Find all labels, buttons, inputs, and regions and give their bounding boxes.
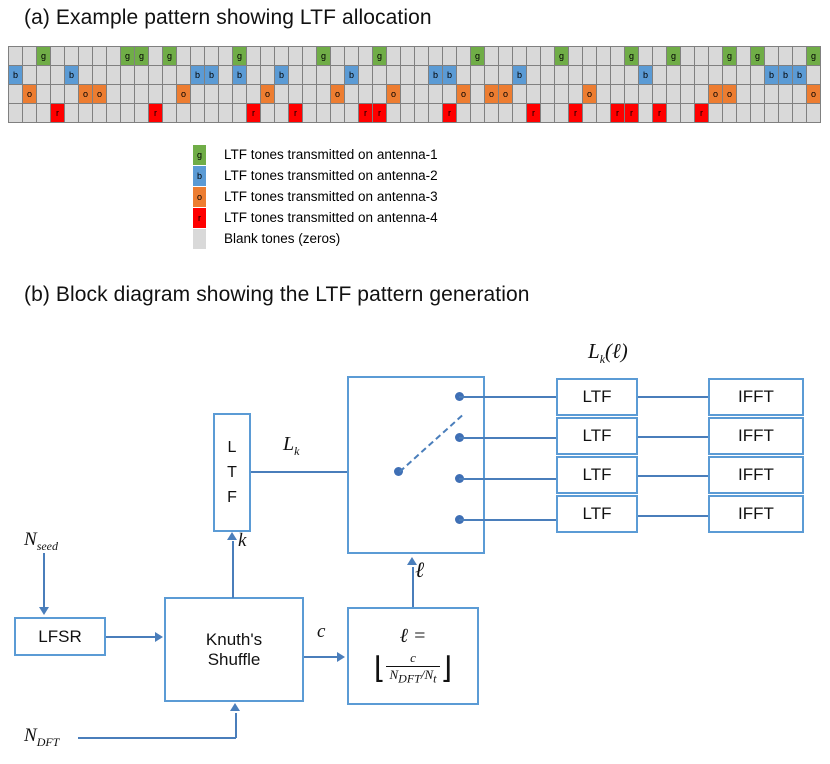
tone-cell-blank bbox=[177, 66, 191, 85]
tone-cell-blank bbox=[289, 66, 303, 85]
tone-cell-blank bbox=[359, 66, 373, 85]
label-lk: Lk bbox=[283, 433, 299, 459]
tone-cell-blank bbox=[51, 85, 65, 104]
ifft-label-2: IFFT bbox=[738, 426, 774, 446]
arrowhead-ndft bbox=[230, 703, 240, 711]
tone-cell-blank bbox=[135, 85, 149, 104]
tone-cell-blank bbox=[163, 85, 177, 104]
tone-cell-g: g bbox=[37, 47, 51, 66]
tone-cell-blank bbox=[163, 66, 177, 85]
tone-cell-blank bbox=[177, 47, 191, 66]
tone-cell-blank bbox=[51, 66, 65, 85]
lfsr-block: LFSR bbox=[14, 617, 106, 656]
tone-cell-blank bbox=[149, 66, 163, 85]
tone-cell-blank bbox=[611, 47, 625, 66]
line-ltf-to-ifft-4 bbox=[638, 515, 708, 517]
arrowhead-nseed bbox=[39, 607, 49, 615]
tone-cell-blank bbox=[247, 47, 261, 66]
tone-cell-blank bbox=[219, 104, 233, 123]
tone-cell-blank bbox=[303, 104, 317, 123]
tone-cell-blank bbox=[191, 85, 205, 104]
tone-cell-blank bbox=[345, 85, 359, 104]
tone-cell-blank bbox=[247, 66, 261, 85]
legend-item-g: gLTF tones transmitted on antenna-1 bbox=[193, 144, 438, 165]
tone-cell-blank bbox=[653, 66, 667, 85]
tone-cell-blank bbox=[569, 85, 583, 104]
tone-cell-blank bbox=[107, 47, 121, 66]
tone-cell-blank bbox=[289, 85, 303, 104]
floor-left-bracket: ⌊ bbox=[374, 654, 386, 684]
tone-cell-b: b bbox=[191, 66, 205, 85]
tone-cell-o: o bbox=[723, 85, 737, 104]
tone-cell-blank bbox=[65, 85, 79, 104]
arrowhead-c bbox=[337, 652, 345, 662]
tone-cell-blank bbox=[737, 85, 751, 104]
tone-cell-blank bbox=[751, 66, 765, 85]
tone-cell-r: r bbox=[149, 104, 163, 123]
tone-cell-blank bbox=[107, 66, 121, 85]
tone-cell-o: o bbox=[387, 85, 401, 104]
tone-grid-row-g: gggggggggggggg bbox=[9, 47, 821, 66]
tone-cell-blank bbox=[401, 66, 415, 85]
line-ndft-vertical bbox=[235, 713, 237, 738]
line-knuth-to-formula bbox=[304, 656, 338, 658]
tone-cell-blank bbox=[625, 66, 639, 85]
fraction-numerator: c bbox=[386, 650, 441, 667]
ltf-output-label-3: LTF bbox=[583, 465, 612, 485]
legend-item-r: rLTF tones transmitted on antenna-4 bbox=[193, 207, 438, 228]
tone-grid-row-b: bbbbbbbbbbbbbb bbox=[9, 66, 821, 85]
legend-item-k: Blank tones (zeros) bbox=[193, 228, 438, 249]
tone-cell-blank bbox=[233, 85, 247, 104]
tone-cell-r: r bbox=[695, 104, 709, 123]
tone-cell-g: g bbox=[723, 47, 737, 66]
tone-cell-blank bbox=[345, 104, 359, 123]
tone-cell-blank bbox=[219, 85, 233, 104]
tone-cell-blank bbox=[695, 85, 709, 104]
ltf-letter-t: T bbox=[227, 460, 237, 485]
tone-cell-o: o bbox=[23, 85, 37, 104]
legend-label-k: Blank tones (zeros) bbox=[224, 231, 340, 246]
tone-cell-blank bbox=[415, 66, 429, 85]
formula-lhs: ℓ = bbox=[400, 625, 427, 648]
tone-cell-g: g bbox=[555, 47, 569, 66]
tone-cell-blank bbox=[541, 47, 555, 66]
tone-cell-blank bbox=[79, 66, 93, 85]
tone-cell-r: r bbox=[289, 104, 303, 123]
tone-cell-blank bbox=[709, 104, 723, 123]
label-c: c bbox=[317, 621, 325, 643]
tone-cell-blank bbox=[149, 47, 163, 66]
tone-cell-o: o bbox=[331, 85, 345, 104]
tone-cell-blank bbox=[359, 47, 373, 66]
tone-cell-blank bbox=[779, 47, 793, 66]
legend-label-b: LTF tones transmitted on antenna-2 bbox=[224, 168, 438, 183]
tone-cell-blank bbox=[751, 85, 765, 104]
tone-cell-blank bbox=[191, 104, 205, 123]
tone-cell-blank bbox=[135, 66, 149, 85]
tone-cell-blank bbox=[373, 66, 387, 85]
tone-cell-blank bbox=[611, 85, 625, 104]
tone-cell-blank bbox=[23, 47, 37, 66]
tone-cell-b: b bbox=[65, 66, 79, 85]
tone-cell-b: b bbox=[513, 66, 527, 85]
tone-cell-blank bbox=[79, 47, 93, 66]
tone-cell-blank bbox=[135, 104, 149, 123]
tone-cell-blank bbox=[345, 47, 359, 66]
knuth-label-line2: Shuffle bbox=[208, 650, 261, 670]
tone-cell-o: o bbox=[807, 85, 821, 104]
tone-cell-blank bbox=[429, 85, 443, 104]
tone-cell-blank bbox=[9, 104, 23, 123]
tone-cell-blank bbox=[695, 47, 709, 66]
tone-cell-blank bbox=[163, 104, 177, 123]
ltf-output-label-2: LTF bbox=[583, 426, 612, 446]
tone-cell-blank bbox=[415, 85, 429, 104]
tone-cell-g: g bbox=[807, 47, 821, 66]
tone-cell-blank bbox=[681, 104, 695, 123]
ltf-output-block-1: LTF bbox=[556, 378, 638, 416]
tone-cell-g: g bbox=[121, 47, 135, 66]
tone-cell-blank bbox=[359, 85, 373, 104]
line-switch-to-ltf-1 bbox=[459, 396, 556, 398]
tone-cell-blank bbox=[667, 104, 681, 123]
tone-cell-blank bbox=[415, 47, 429, 66]
tone-cell-b: b bbox=[443, 66, 457, 85]
tone-cell-r: r bbox=[625, 104, 639, 123]
tone-cell-g: g bbox=[751, 47, 765, 66]
tone-cell-blank bbox=[625, 85, 639, 104]
tone-cell-blank bbox=[793, 104, 807, 123]
tone-cell-blank bbox=[807, 104, 821, 123]
line-ltf-to-ifft-3 bbox=[638, 475, 708, 477]
ifft-block-1: IFFT bbox=[708, 378, 804, 416]
tone-cell-blank bbox=[681, 47, 695, 66]
tone-cell-g: g bbox=[667, 47, 681, 66]
tone-cell-blank bbox=[597, 66, 611, 85]
tone-cell-blank bbox=[415, 104, 429, 123]
tone-cell-blank bbox=[317, 85, 331, 104]
line-ell-to-switch bbox=[412, 567, 414, 609]
tone-cell-blank bbox=[499, 104, 513, 123]
legend-item-b: bLTF tones transmitted on antenna-2 bbox=[193, 165, 438, 186]
legend-label-r: LTF tones transmitted on antenna-4 bbox=[224, 210, 438, 225]
tone-cell-blank bbox=[443, 85, 457, 104]
tone-cell-blank bbox=[723, 66, 737, 85]
tone-cell-blank bbox=[429, 104, 443, 123]
tone-cell-blank bbox=[765, 47, 779, 66]
tone-cell-blank bbox=[65, 104, 79, 123]
tone-cell-g: g bbox=[233, 47, 247, 66]
tone-cell-o: o bbox=[485, 85, 499, 104]
tone-cell-blank bbox=[303, 85, 317, 104]
tone-cell-blank bbox=[289, 47, 303, 66]
tone-cell-blank bbox=[457, 66, 471, 85]
tone-cell-blank bbox=[401, 85, 415, 104]
tone-cell-blank bbox=[709, 66, 723, 85]
ifft-block-3: IFFT bbox=[708, 456, 804, 494]
section-a-caption: (a) Example pattern showing LTF allocati… bbox=[24, 6, 432, 30]
tone-cell-blank bbox=[443, 47, 457, 66]
block-diagram: Nseed LFSR Knuth's Shuffle NDFT k L T F … bbox=[0, 325, 830, 764]
tone-cell-blank bbox=[527, 47, 541, 66]
ell-formula-block: ℓ = ⌊ c NDFT/Nt ⌋ bbox=[347, 607, 479, 705]
tone-cell-blank bbox=[401, 47, 415, 66]
tone-cell-blank bbox=[611, 66, 625, 85]
ltf-vertical-block: L T F bbox=[213, 413, 251, 532]
tone-cell-blank bbox=[765, 104, 779, 123]
tone-cell-r: r bbox=[653, 104, 667, 123]
tone-cell-blank bbox=[275, 104, 289, 123]
tone-cell-blank bbox=[681, 66, 695, 85]
tone-cell-blank bbox=[499, 47, 513, 66]
tone-allocation-grid: ggggggggggggggbbbbbbbbbbbbbboooooooooooo… bbox=[8, 46, 821, 123]
tone-cell-blank bbox=[93, 104, 107, 123]
ifft-label-1: IFFT bbox=[738, 387, 774, 407]
tone-cell-blank bbox=[317, 66, 331, 85]
tone-cell-b: b bbox=[9, 66, 23, 85]
tone-cell-blank bbox=[737, 66, 751, 85]
tone-cell-blank bbox=[121, 66, 135, 85]
arrowhead-k bbox=[227, 532, 237, 540]
tone-cell-g: g bbox=[471, 47, 485, 66]
tone-cell-b: b bbox=[793, 66, 807, 85]
switch-block bbox=[347, 376, 485, 554]
line-ltf-to-ifft-2 bbox=[638, 436, 708, 438]
ifft-block-4: IFFT bbox=[708, 495, 804, 533]
tone-cell-blank bbox=[303, 47, 317, 66]
floor-right-bracket: ⌋ bbox=[440, 654, 452, 684]
tone-cell-b: b bbox=[233, 66, 247, 85]
tone-cell-blank bbox=[527, 66, 541, 85]
tone-cell-blank bbox=[667, 66, 681, 85]
tone-cell-blank bbox=[65, 47, 79, 66]
fraction-denominator: NDFT/Nt bbox=[386, 667, 441, 687]
ltf-output-label-1: LTF bbox=[583, 387, 612, 407]
line-switch-to-ltf-2 bbox=[459, 437, 556, 439]
formula-fraction: ⌊ c NDFT/Nt ⌋ bbox=[374, 650, 452, 687]
tone-cell-b: b bbox=[429, 66, 443, 85]
tone-cell-r: r bbox=[247, 104, 261, 123]
tone-cell-blank bbox=[779, 104, 793, 123]
tone-cell-blank bbox=[247, 85, 261, 104]
tone-cell-o: o bbox=[457, 85, 471, 104]
tone-cell-blank bbox=[219, 47, 233, 66]
tone-cell-blank bbox=[9, 85, 23, 104]
tone-cell-blank bbox=[23, 66, 37, 85]
label-n-dft: NDFT bbox=[24, 725, 59, 750]
line-knuth-to-ltf bbox=[232, 541, 234, 598]
tone-cell-blank bbox=[499, 66, 513, 85]
tone-cell-blank bbox=[569, 47, 583, 66]
tone-cell-blank bbox=[471, 66, 485, 85]
tone-cell-o: o bbox=[709, 85, 723, 104]
legend-label-o: LTF tones transmitted on antenna-3 bbox=[224, 189, 438, 204]
tone-cell-blank bbox=[37, 104, 51, 123]
tone-cell-blank bbox=[597, 47, 611, 66]
tone-cell-blank bbox=[401, 104, 415, 123]
tone-cell-o: o bbox=[261, 85, 275, 104]
tone-cell-blank bbox=[331, 104, 345, 123]
tone-cell-blank bbox=[513, 85, 527, 104]
tone-cell-r: r bbox=[359, 104, 373, 123]
tone-cell-blank bbox=[457, 104, 471, 123]
tone-cell-blank bbox=[695, 66, 709, 85]
tone-cell-blank bbox=[93, 47, 107, 66]
tone-cell-blank bbox=[583, 104, 597, 123]
tone-cell-blank bbox=[793, 85, 807, 104]
tone-cell-blank bbox=[471, 104, 485, 123]
legend-swatch-b: b bbox=[193, 166, 206, 186]
tone-cell-o: o bbox=[583, 85, 597, 104]
legend-item-o: oLTF tones transmitted on antenna-3 bbox=[193, 186, 438, 207]
tone-cell-blank bbox=[331, 66, 345, 85]
tone-cell-blank bbox=[51, 47, 65, 66]
tone-grid-row-r: rrrrrrrrrrrrr bbox=[9, 104, 821, 123]
tone-cell-blank bbox=[737, 104, 751, 123]
section-b-caption: (b) Block diagram showing the LTF patter… bbox=[24, 283, 530, 307]
ifft-label-3: IFFT bbox=[738, 465, 774, 485]
tone-cell-blank bbox=[555, 85, 569, 104]
ltf-output-block-3: LTF bbox=[556, 456, 638, 494]
tone-cell-blank bbox=[723, 104, 737, 123]
tone-cell-blank bbox=[149, 85, 163, 104]
tone-cell-blank bbox=[569, 66, 583, 85]
ltf-output-label-4: LTF bbox=[583, 504, 612, 524]
tone-cell-blank bbox=[387, 104, 401, 123]
tone-cell-r: r bbox=[443, 104, 457, 123]
tone-cell-blank bbox=[121, 85, 135, 104]
tone-cell-blank bbox=[261, 104, 275, 123]
tone-cell-o: o bbox=[177, 85, 191, 104]
tone-cell-blank bbox=[639, 47, 653, 66]
label-n-seed: Nseed bbox=[24, 529, 58, 554]
tone-cell-blank bbox=[653, 85, 667, 104]
tone-cell-blank bbox=[583, 66, 597, 85]
tone-cell-blank bbox=[583, 47, 597, 66]
tone-cell-blank bbox=[37, 85, 51, 104]
tone-cell-blank bbox=[191, 47, 205, 66]
ifft-label-4: IFFT bbox=[738, 504, 774, 524]
tone-cell-blank bbox=[23, 104, 37, 123]
tone-cell-blank bbox=[653, 47, 667, 66]
tone-cell-blank bbox=[807, 66, 821, 85]
tone-cell-blank bbox=[541, 104, 555, 123]
line-nseed-to-lfsr bbox=[43, 553, 45, 609]
fraction: c NDFT/Nt bbox=[386, 650, 441, 687]
tone-cell-blank bbox=[37, 66, 51, 85]
tone-cell-g: g bbox=[373, 47, 387, 66]
tone-cell-blank bbox=[737, 47, 751, 66]
tone-cell-blank bbox=[751, 104, 765, 123]
tone-cell-o: o bbox=[79, 85, 93, 104]
tone-cell-blank bbox=[513, 104, 527, 123]
tone-cell-g: g bbox=[625, 47, 639, 66]
tone-cell-blank bbox=[541, 66, 555, 85]
tone-cell-b: b bbox=[345, 66, 359, 85]
ifft-block-2: IFFT bbox=[708, 417, 804, 455]
arrowhead-lfsr-knuth bbox=[155, 632, 163, 642]
ltf-letter-l: L bbox=[228, 435, 237, 460]
tone-cell-blank bbox=[275, 47, 289, 66]
tone-cell-blank bbox=[429, 47, 443, 66]
tone-cell-g: g bbox=[163, 47, 177, 66]
tone-cell-blank bbox=[639, 85, 653, 104]
line-switch-to-ltf-3 bbox=[459, 478, 556, 480]
tone-cell-blank bbox=[639, 104, 653, 123]
tone-cell-blank bbox=[471, 85, 485, 104]
tone-cell-blank bbox=[233, 104, 247, 123]
tone-cell-blank bbox=[681, 85, 695, 104]
tone-cell-blank bbox=[317, 104, 331, 123]
tone-cell-r: r bbox=[611, 104, 625, 123]
tone-cell-r: r bbox=[569, 104, 583, 123]
tone-cell-blank bbox=[765, 85, 779, 104]
tone-cell-blank bbox=[261, 66, 275, 85]
tone-cell-blank bbox=[261, 47, 275, 66]
tone-cell-blank bbox=[527, 85, 541, 104]
ltf-letter-f: F bbox=[227, 485, 237, 510]
tone-cell-blank bbox=[205, 104, 219, 123]
tone-cell-blank bbox=[93, 66, 107, 85]
tone-cell-b: b bbox=[779, 66, 793, 85]
tone-cell-b: b bbox=[205, 66, 219, 85]
line-lfsr-to-knuth bbox=[106, 636, 158, 638]
tone-cell-blank bbox=[779, 85, 793, 104]
tone-cell-blank bbox=[793, 47, 807, 66]
tone-cell-blank bbox=[205, 47, 219, 66]
tone-cell-blank bbox=[275, 85, 289, 104]
line-ndft-horizontal bbox=[78, 737, 236, 739]
tone-cell-blank bbox=[541, 85, 555, 104]
tone-cell-blank bbox=[485, 104, 499, 123]
tone-cell-blank bbox=[709, 47, 723, 66]
tone-cell-blank bbox=[387, 66, 401, 85]
tone-cell-blank bbox=[667, 85, 681, 104]
tone-cell-blank bbox=[331, 47, 345, 66]
knuth-label-line1: Knuth's bbox=[206, 630, 262, 650]
legend-swatch-o: o bbox=[193, 187, 206, 207]
tone-cell-blank bbox=[387, 47, 401, 66]
tone-cell-blank bbox=[9, 47, 23, 66]
legend: gLTF tones transmitted on antenna-1bLTF … bbox=[193, 144, 438, 249]
ltf-output-block-2: LTF bbox=[556, 417, 638, 455]
legend-swatch-g: g bbox=[193, 145, 206, 165]
tone-cell-blank bbox=[121, 104, 135, 123]
tone-cell-r: r bbox=[51, 104, 65, 123]
tone-cell-blank bbox=[373, 85, 387, 104]
tone-cell-blank bbox=[107, 85, 121, 104]
legend-label-g: LTF tones transmitted on antenna-1 bbox=[224, 147, 438, 162]
tone-cell-blank bbox=[457, 47, 471, 66]
tone-cell-blank bbox=[555, 104, 569, 123]
line-ltf-to-ifft-1 bbox=[638, 396, 708, 398]
legend-swatch-k bbox=[193, 229, 206, 249]
tone-cell-blank bbox=[177, 104, 191, 123]
line-switch-to-ltf-4 bbox=[459, 519, 556, 521]
tone-cell-blank bbox=[485, 47, 499, 66]
tone-cell-blank bbox=[205, 85, 219, 104]
tone-cell-g: g bbox=[135, 47, 149, 66]
tone-cell-b: b bbox=[275, 66, 289, 85]
tone-cell-blank bbox=[513, 47, 527, 66]
ltf-output-block-4: LTF bbox=[556, 495, 638, 533]
tone-cell-blank bbox=[107, 104, 121, 123]
tone-cell-o: o bbox=[499, 85, 513, 104]
tone-cell-b: b bbox=[765, 66, 779, 85]
tone-cell-blank bbox=[303, 66, 317, 85]
tone-cell-blank bbox=[597, 104, 611, 123]
